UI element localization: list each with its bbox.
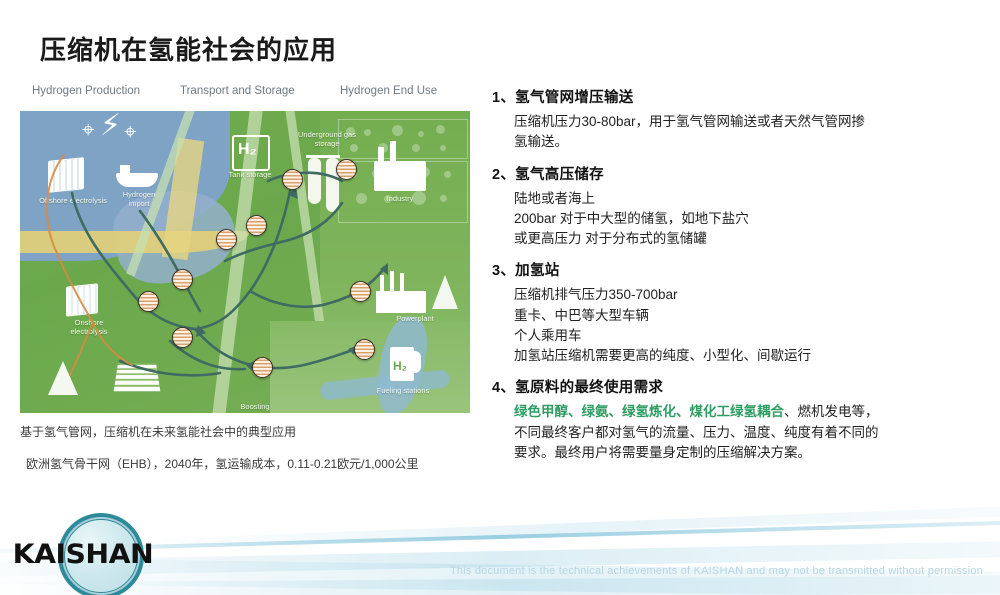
page-title: 压缩机在氢能社会的应用: [40, 30, 337, 67]
compressor-marker: [172, 327, 193, 348]
point-3-body: 压缩机排气压力350-700bar 重卡、中巴等大型车辆 个人乘用车 加氢站压缩…: [492, 285, 990, 366]
kaishan-logo: KAISHAN: [10, 511, 200, 589]
point-1-line: 压缩机压力30-80bar，用于氢气管网输送或者天然气管网掺: [514, 112, 990, 132]
compressor-marker: [172, 269, 193, 290]
point-4: 4、氢原料的最终使用需求 绿色甲醇、绿氨、绿氢炼化、煤化工绿氢耦合、燃机发电等，…: [492, 376, 990, 463]
point-3-line: 压缩机排气压力350-700bar: [514, 285, 990, 305]
compressor-marker: [350, 281, 371, 302]
point-4-number: 4、: [492, 380, 515, 396]
point-3-title: 加氢站: [515, 263, 559, 279]
point-4-line: 不同最终客户都对氢气的流量、压力、温度、纯度有着不同的: [514, 423, 990, 443]
left-column: Hydrogen Production Transport and Storag…: [20, 85, 475, 474]
point-4-line: 、燃机发电等，: [784, 404, 879, 419]
point-3: 3、加氢站 压缩机排气压力350-700bar 重卡、中巴等大型车辆 个人乘用车…: [492, 259, 990, 366]
point-4-title: 氢原料的最终使用需求: [515, 380, 663, 396]
diagram-section-headers: Hydrogen Production Transport and Storag…: [20, 85, 475, 111]
point-2: 2、氢气高压储存 陆地或者海上 200bar 对于中大型的储氢，如地下盐穴 或更…: [492, 163, 990, 250]
point-3-heading: 3、加氢站: [492, 259, 990, 280]
point-2-body: 陆地或者海上 200bar 对于中大型的储氢，如地下盐穴 或更高压力 对于分布式…: [492, 189, 990, 250]
point-3-line: 加氢站压缩机需要更高的纯度、小型化、间歇运行: [514, 346, 990, 366]
point-1: 1、氢气管网增压输送 压缩机压力30-80bar，用于氢气管网输送或者天然气管网…: [492, 86, 990, 153]
point-2-line: 陆地或者海上: [514, 189, 990, 209]
point-2-line: 200bar 对于中大型的储氢，如地下盐穴: [514, 209, 990, 229]
point-3-line: 重卡、中巴等大型车辆: [514, 306, 990, 326]
compressor-marker: [216, 229, 237, 250]
compressor-marker: [246, 215, 267, 236]
point-4-first-line: 绿色甲醇、绿氨、绿氢炼化、煤化工绿氢耦合、燃机发电等，: [514, 402, 990, 422]
points-list: 1、氢气管网增压输送 压缩机压力30-80bar，用于氢气管网输送或者天然气管网…: [492, 86, 990, 473]
diagram-caption: 基于氢气管网，压缩机在未来氢能社会中的典型应用: [20, 423, 475, 441]
point-3-number: 3、: [492, 263, 515, 279]
compressor-marker: [138, 291, 159, 312]
hydrogen-society-diagram: ⌖ ⚡ ⌖ Offshore electrolysis Hydrogen imp…: [20, 111, 470, 413]
logo-wordmark: KAISHAN: [13, 539, 154, 570]
point-4-body: 绿色甲醇、绿氨、绿氢炼化、煤化工绿氢耦合、燃机发电等， 不同最终客户都对氢气的流…: [492, 402, 990, 463]
point-2-title: 氢气高压储存: [515, 167, 604, 183]
diagram-header-production: Hydrogen Production: [20, 85, 180, 97]
compressor-marker: [252, 357, 273, 378]
compressor-marker: [336, 159, 357, 180]
point-2-line: 或更高压力 对于分布式的氢储罐: [514, 229, 990, 249]
compressor-marker: [354, 339, 375, 360]
pipeline-network: [20, 111, 470, 413]
point-3-line: 个人乘用车: [514, 326, 990, 346]
point-4-highlight: 绿色甲醇、绿氨、绿氢炼化、煤化工绿氢耦合: [514, 404, 784, 419]
slide-root: 压缩机在氢能社会的应用 Hydrogen Production Transpor…: [0, 0, 1000, 595]
point-1-line: 氢输送。: [514, 132, 990, 152]
footer-disclaimer: This document is the technical achieveme…: [450, 565, 983, 577]
diagram-header-enduse: Hydrogen End Use: [340, 85, 437, 97]
point-4-line: 要求。最终用户将需要量身定制的压缩解决方案。: [514, 443, 990, 463]
footer: KAISHAN This document is the technical a…: [0, 505, 1000, 595]
diagram-header-transport: Transport and Storage: [180, 85, 340, 97]
point-1-body: 压缩机压力30-80bar，用于氢气管网输送或者天然气管网掺 氢输送。: [492, 112, 990, 153]
point-1-number: 1、: [492, 90, 515, 106]
compressor-marker: [282, 169, 303, 190]
point-1-title: 氢气管网增压输送: [515, 90, 633, 106]
point-4-heading: 4、氢原料的最终使用需求: [492, 376, 990, 397]
point-2-number: 2、: [492, 167, 515, 183]
point-2-heading: 2、氢气高压储存: [492, 163, 990, 184]
point-1-heading: 1、氢气管网增压输送: [492, 86, 990, 107]
diagram-source: 欧洲氢气骨干网（EHB），2040年，氢运输成本，0.11-0.21欧元/1,0…: [20, 455, 475, 474]
